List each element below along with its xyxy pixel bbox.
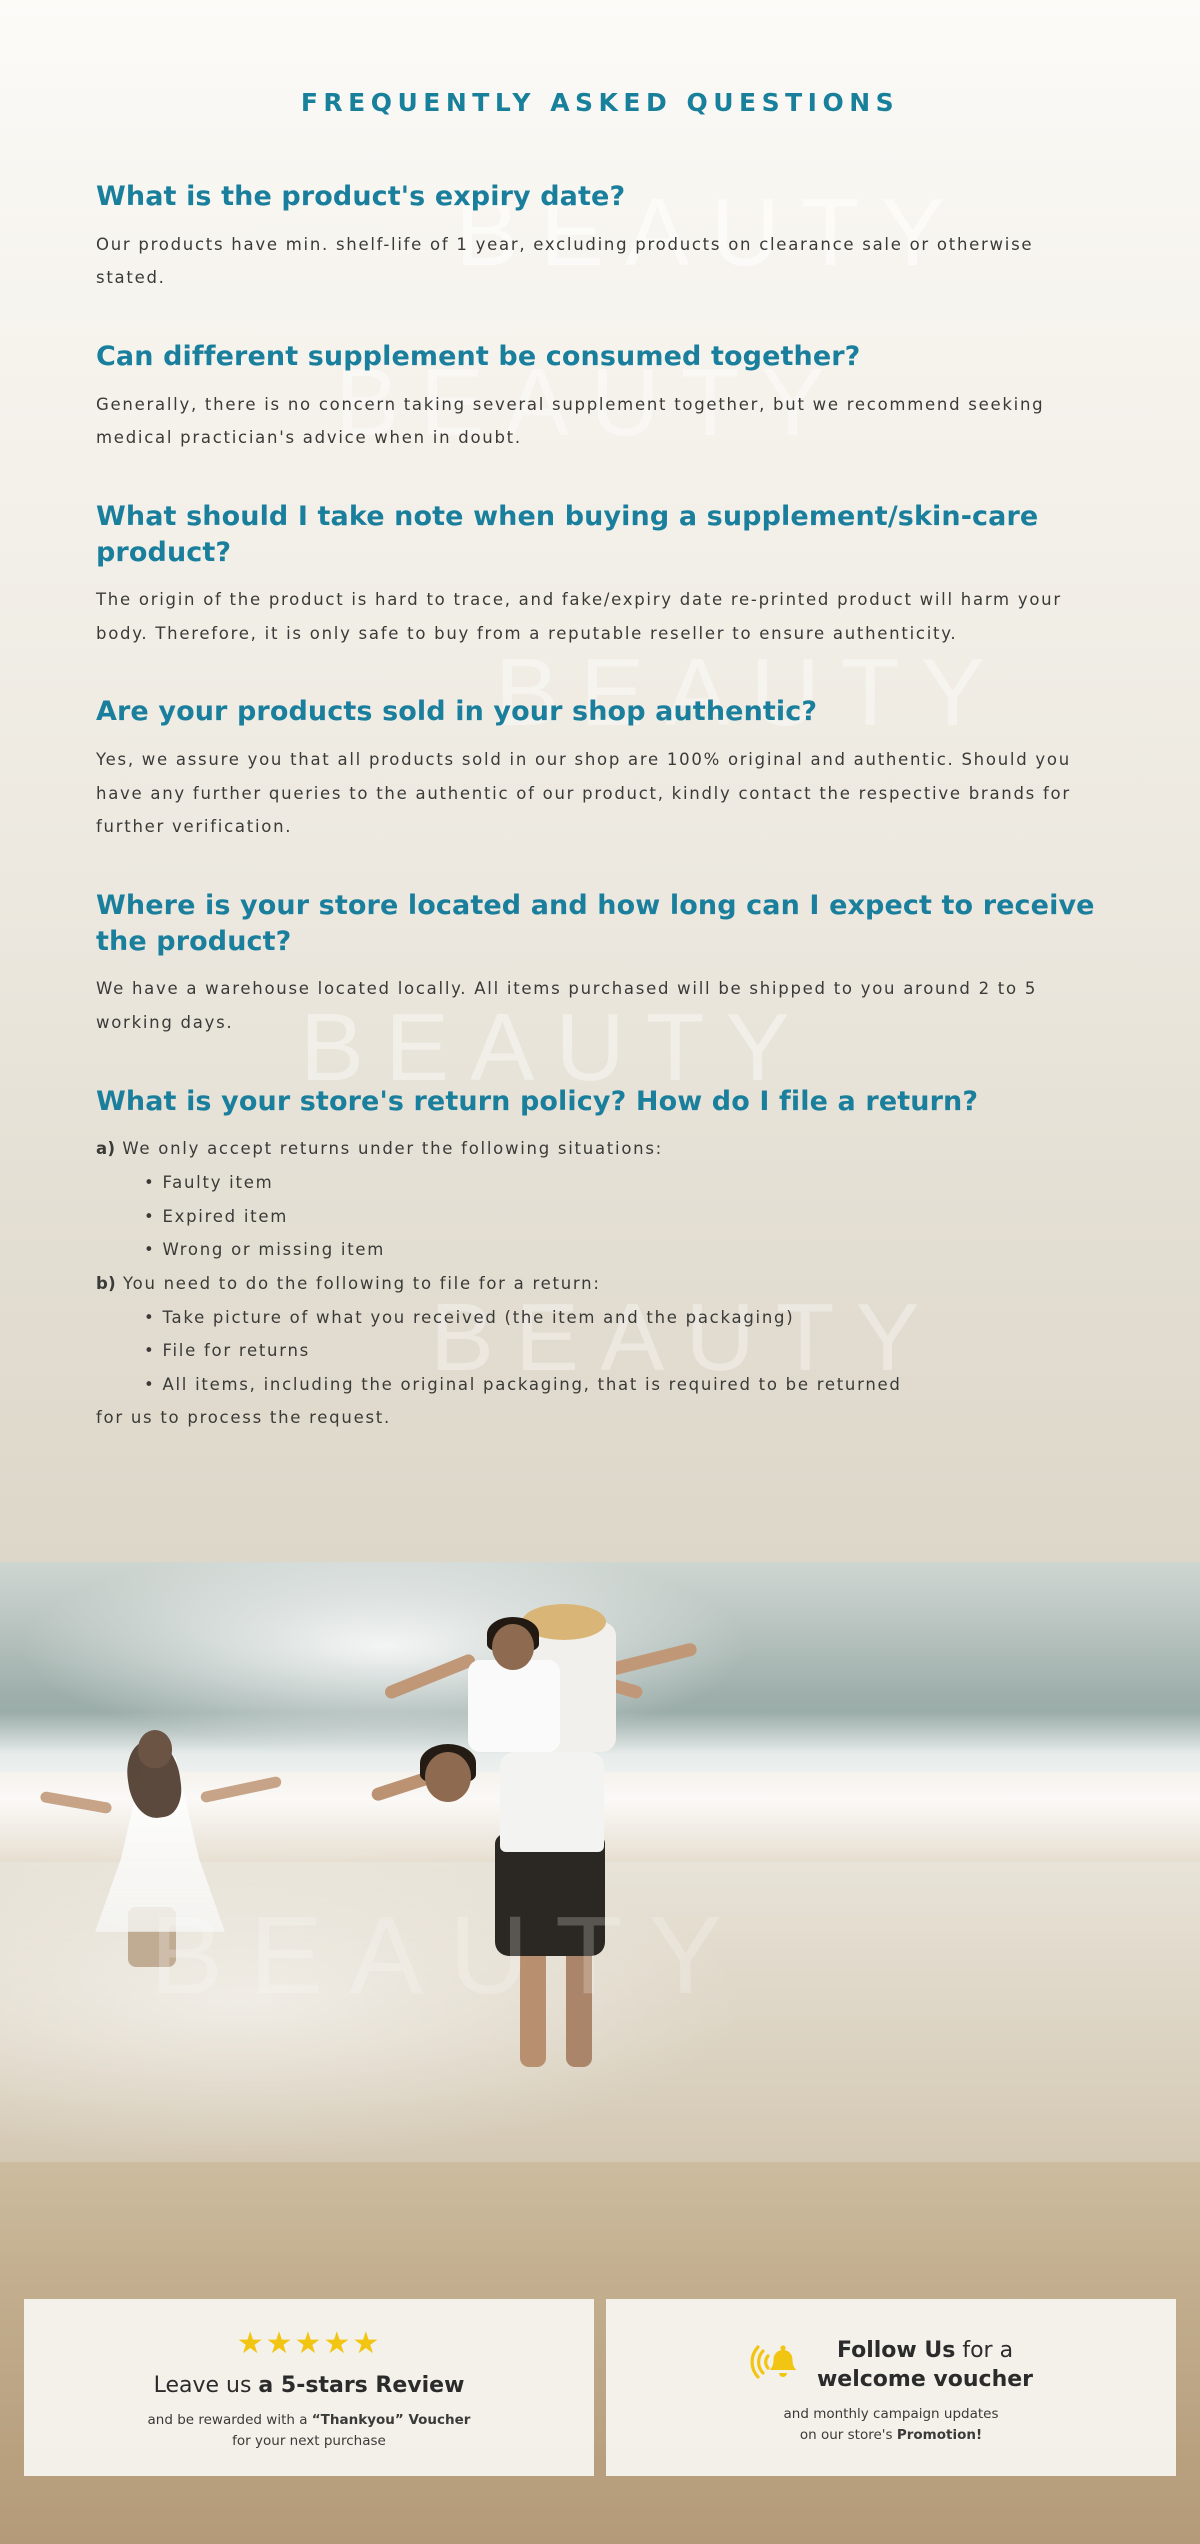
faq-answer: Our products have min. shelf-life of 1 y… [96,228,1104,295]
list-item: • All items, including the original pack… [144,1368,1104,1402]
follow-sub-plain-1: and monthly campaign updates [784,2406,999,2422]
review-card-subtext: and be rewarded with a “Thankyou” Vouche… [42,2410,576,2452]
follow-promo-card[interactable]: Follow Us for a welcome voucher and mont… [606,2299,1176,2476]
watermark-text: BEAUTY [150,1892,749,2019]
return-group-b-label: b) [96,1274,116,1293]
faq-answer: We have a warehouse located locally. All… [96,972,1104,1039]
list-item: • Faulty item [144,1166,1104,1200]
faq-question: Where is your store located and how long… [96,888,1104,959]
bell-icon [749,2337,801,2393]
faq-question: What is your store's return policy? How … [96,1084,1104,1120]
list-item: • File for returns [144,1334,1104,1368]
faq-landing-page: BEAUTY BEAUTY BEAUTY BEAUTY BEAUTY FREQU… [0,0,1200,2544]
faq-item-1: What is the product's expiry date? Our p… [96,179,1104,295]
review-sub-bold: “Thankyou” Voucher [312,2412,471,2428]
faq-item-return-policy: What is your store's return policy? How … [96,1084,1104,1436]
follow-headline-bold-2: welcome voucher [817,2367,1033,2392]
return-group-a: a) We only accept returns under the foll… [96,1132,1104,1166]
faq-item-2: Can different supplement be consumed tog… [96,339,1104,455]
review-headline-plain: Leave us [154,2373,259,2398]
return-group-a-bullets: • Faulty item • Expired item • Wrong or … [144,1166,1104,1267]
list-item: • Take picture of what you received (the… [144,1301,1104,1335]
follow-sub-plain-2: on our store's [800,2427,897,2443]
review-sub-plain-1: and be rewarded with a [148,2412,312,2428]
man-torso [500,1752,604,1852]
follow-headline-bold-1: Follow Us [837,2338,955,2363]
girl-head [138,1730,172,1768]
faq-item-5: Where is your store located and how long… [96,888,1104,1040]
faq-question: Can different supplement be consumed tog… [96,339,1104,375]
faq-item-4: Are your products sold in your shop auth… [96,694,1104,844]
faq-answer: Yes, we assure you that all products sol… [96,743,1104,844]
faq-question: Are your products sold in your shop auth… [96,694,1104,730]
boy-head [492,1624,534,1670]
beach-photo-section: BEAUTY ★★★★★ Leave us a 5-stars Review a… [0,1562,1200,2544]
review-sub-plain-2: for your next purchase [232,2433,386,2449]
return-closing-text: for us to process the request. [96,1401,1104,1435]
return-group-a-text: We only accept returns under the followi… [122,1139,663,1158]
review-headline-bold: a 5-stars Review [258,2373,464,2398]
return-group-a-label: a) [96,1139,115,1158]
review-promo-card[interactable]: ★★★★★ Leave us a 5-stars Review and be r… [24,2299,594,2476]
faq-answer: Generally, there is no concern taking se… [96,388,1104,455]
list-item: • Expired item [144,1200,1104,1234]
page-title: FREQUENTLY ASKED QUESTIONS [96,0,1104,117]
star-rating-icon: ★★★★★ [42,2329,576,2359]
faq-section: BEAUTY BEAUTY BEAUTY BEAUTY BEAUTY FREQU… [0,0,1200,1562]
boy-figure [468,1660,560,1752]
faq-answer: The origin of the product is hard to tra… [96,583,1104,650]
list-item: • Wrong or missing item [144,1233,1104,1267]
return-group-b-text: You need to do the following to file for… [123,1274,601,1293]
follow-card-subtext: and monthly campaign updates on our stor… [624,2404,1158,2446]
follow-headline-plain: for a [955,2338,1013,2363]
return-group-b-bullets: • Take picture of what you received (the… [144,1301,1104,1402]
faq-item-3: What should I take note when buying a su… [96,499,1104,651]
follow-card-headline: Follow Us for a welcome voucher [817,2336,1033,2394]
man-head [425,1752,471,1802]
return-group-b: b) You need to do the following to file … [96,1267,1104,1301]
faq-question: What should I take note when buying a su… [96,499,1104,570]
follow-sub-bold: Promotion! [897,2427,982,2443]
faq-question: What is the product's expiry date? [96,179,1104,215]
review-card-headline: Leave us a 5-stars Review [42,2371,576,2400]
promo-cards: ★★★★★ Leave us a 5-stars Review and be r… [0,2299,1200,2476]
